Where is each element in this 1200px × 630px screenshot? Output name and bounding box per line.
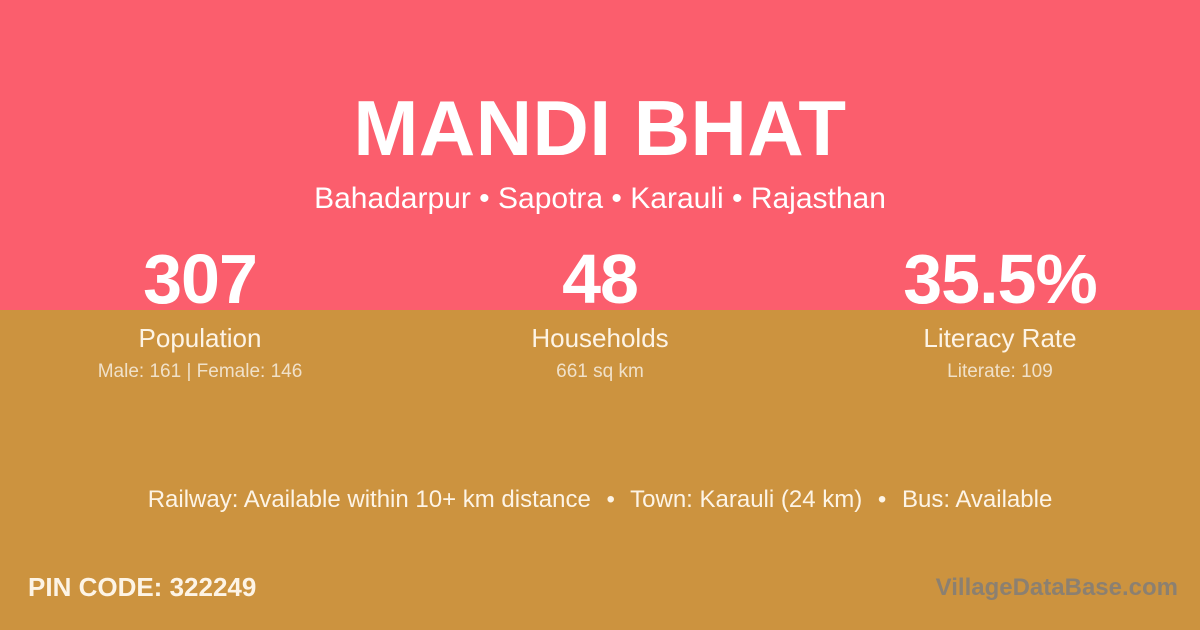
- transit-info: Railway: Available within 10+ km distanc…: [0, 485, 1200, 515]
- stat-label: Households: [400, 323, 800, 353]
- stat-value: 35.5%: [800, 244, 1200, 314]
- village-info-card: MANDI BHAT Bahadarpur • Sapotra • Karaul…: [0, 0, 1200, 630]
- stat-literacy-rate: 35.5% Literacy Rate Literate: 109: [800, 244, 1200, 384]
- stat-population: 307 Population Male: 161 | Female: 146: [0, 244, 400, 384]
- stats-row: 307 Population Male: 161 | Female: 146 4…: [0, 244, 1200, 384]
- site-watermark: VillageDataBase.com: [936, 572, 1178, 604]
- town-info: Town: Karauli (24 km): [630, 486, 862, 513]
- stat-label: Literacy Rate: [800, 323, 1200, 353]
- page-title: MANDI BHAT: [0, 84, 1200, 172]
- stat-value: 307: [0, 244, 400, 314]
- pin-code: PIN CODE: 322249: [28, 570, 256, 604]
- card-footer: PIN CODE: 322249 VillageDataBase.com: [0, 570, 1200, 616]
- stat-detail: Literate: 109: [800, 361, 1200, 383]
- railway-info: Railway: Available within 10+ km distanc…: [148, 486, 591, 513]
- bullet-separator-icon: •: [598, 485, 624, 515]
- stat-detail: Male: 161 | Female: 146: [0, 361, 400, 383]
- stat-label: Population: [0, 323, 400, 353]
- stat-households: 48 Households 661 sq km: [400, 244, 800, 384]
- bullet-separator-icon: •: [869, 485, 895, 515]
- bus-info: Bus: Available: [902, 486, 1052, 513]
- stat-value: 48: [400, 244, 800, 314]
- stat-detail: 661 sq km: [400, 361, 800, 383]
- breadcrumb: Bahadarpur • Sapotra • Karauli • Rajasth…: [0, 181, 1200, 217]
